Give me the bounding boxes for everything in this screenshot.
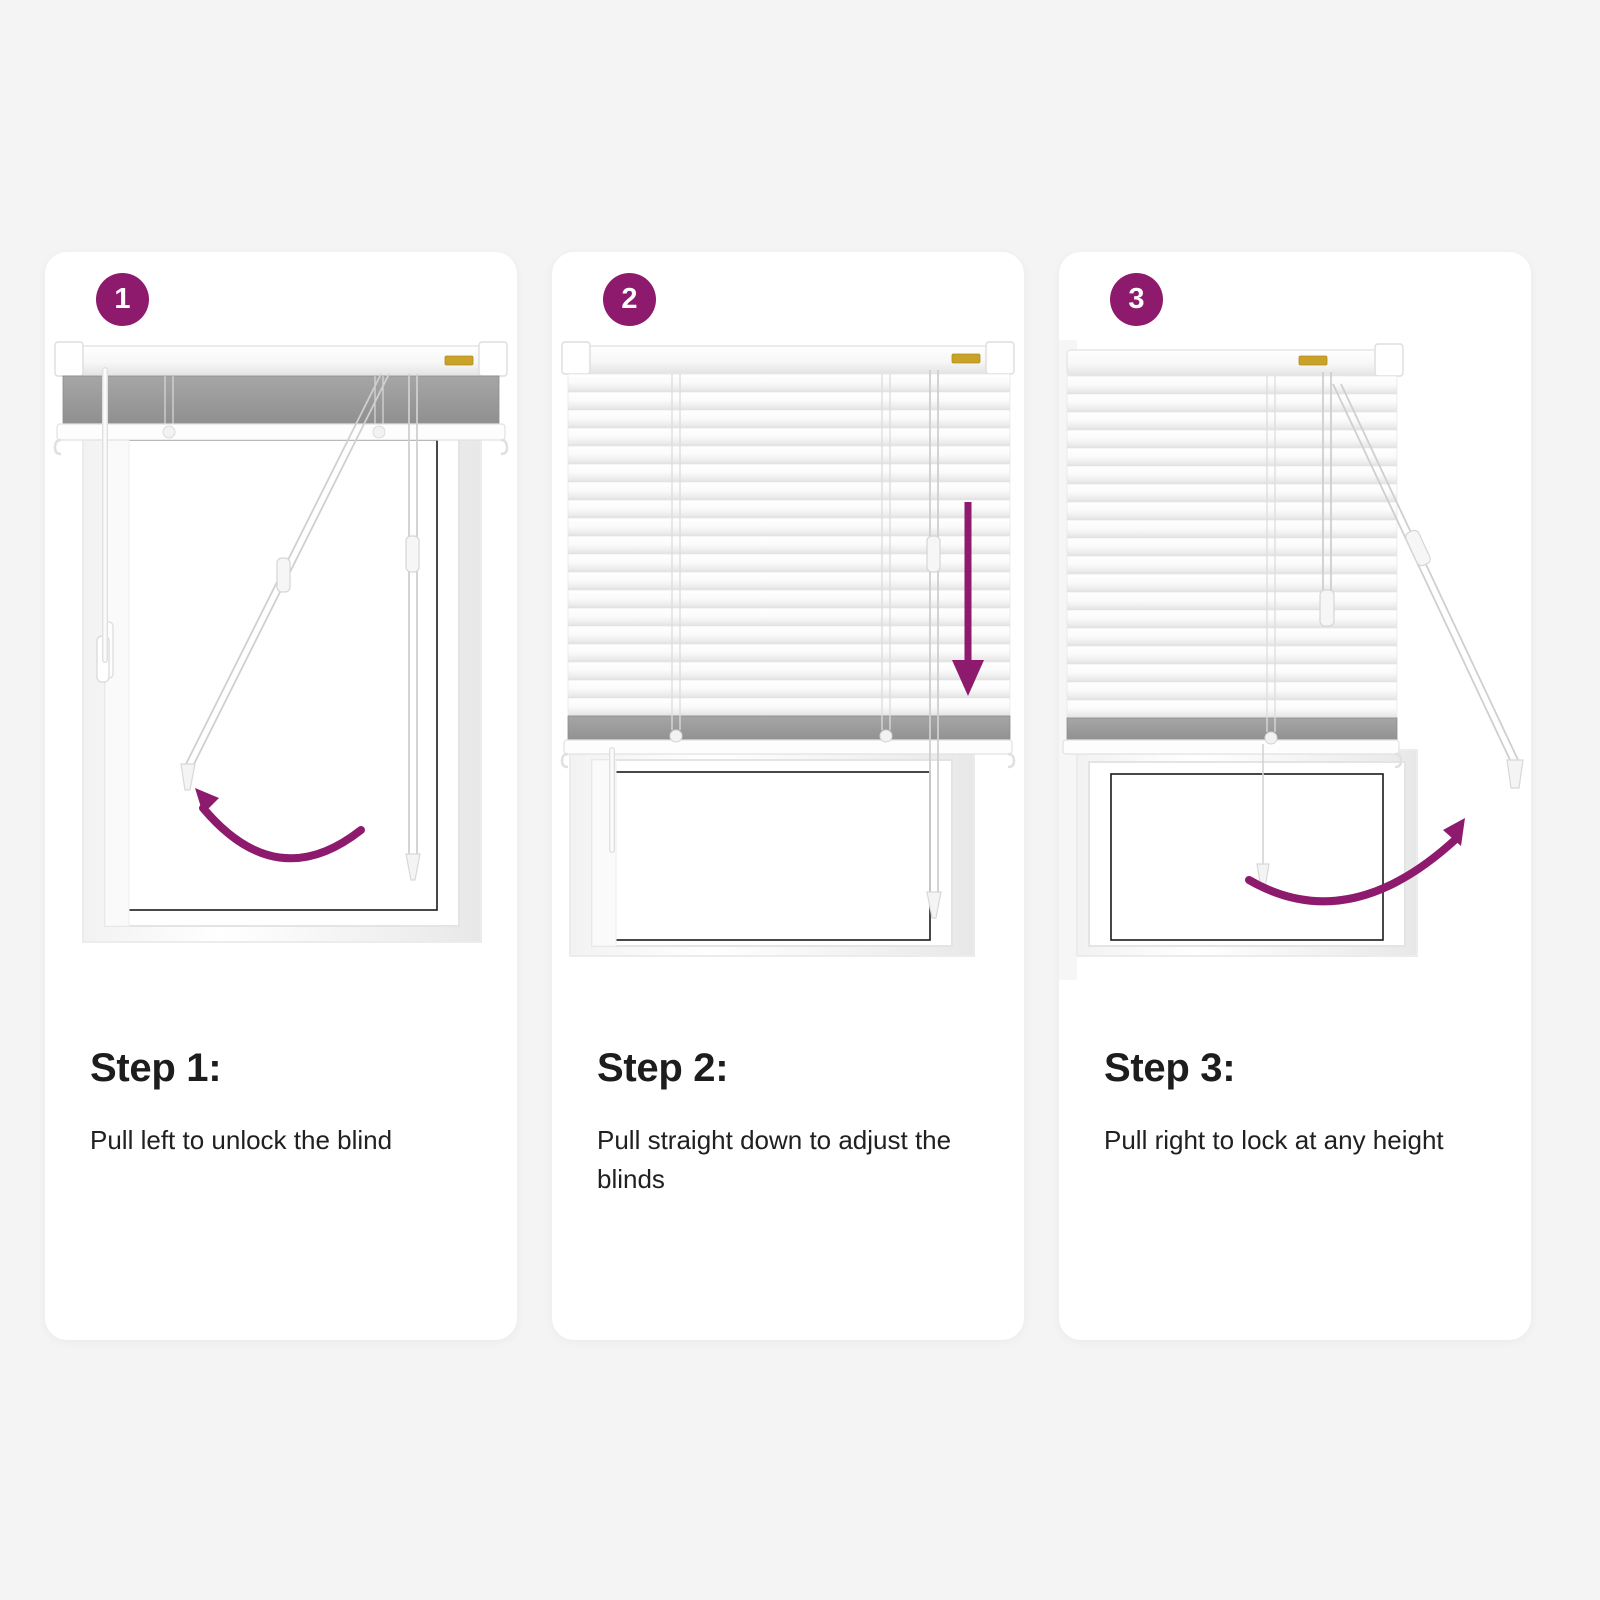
- step-badge-1: 1: [96, 273, 149, 326]
- step-badge-2: 2: [603, 273, 656, 326]
- blind-slats: [1067, 376, 1397, 718]
- blind-headrail: [562, 342, 1014, 374]
- step-text-block-2: Step 2: Pull straight down to adjust the…: [597, 1047, 987, 1199]
- step-description-1: Pull left to unlock the blind: [90, 1121, 480, 1160]
- blind-headrail: [1067, 344, 1403, 376]
- step-description-2: Pull straight down to adjust the blinds: [597, 1121, 987, 1199]
- step-card-3: 3: [1059, 252, 1531, 1340]
- window-frame: [1077, 750, 1417, 956]
- step-title-2: Step 2:: [597, 1047, 987, 1089]
- step-badge-3: 3: [1110, 273, 1163, 326]
- illustration-step-3: [1059, 340, 1531, 1040]
- illustration-step-1: [45, 340, 517, 1040]
- illustration-step-2: [552, 340, 1024, 1040]
- window-frame: [570, 748, 974, 956]
- step-title-1: Step 1:: [90, 1047, 480, 1089]
- step-text-block-1: Step 1: Pull left to unlock the blind: [90, 1047, 480, 1160]
- step-title-3: Step 3:: [1104, 1047, 1494, 1089]
- blind-slats: [568, 374, 1010, 716]
- step-description-3: Pull right to lock at any height: [1104, 1121, 1494, 1160]
- blind-headrail: [55, 342, 507, 454]
- step-text-block-3: Step 3: Pull right to lock at any height: [1104, 1047, 1494, 1160]
- step-card-2: 2: [552, 252, 1024, 1340]
- instruction-board: 1: [0, 0, 1600, 1600]
- step-card-1: 1: [45, 252, 517, 1340]
- window-frame: [83, 412, 481, 942]
